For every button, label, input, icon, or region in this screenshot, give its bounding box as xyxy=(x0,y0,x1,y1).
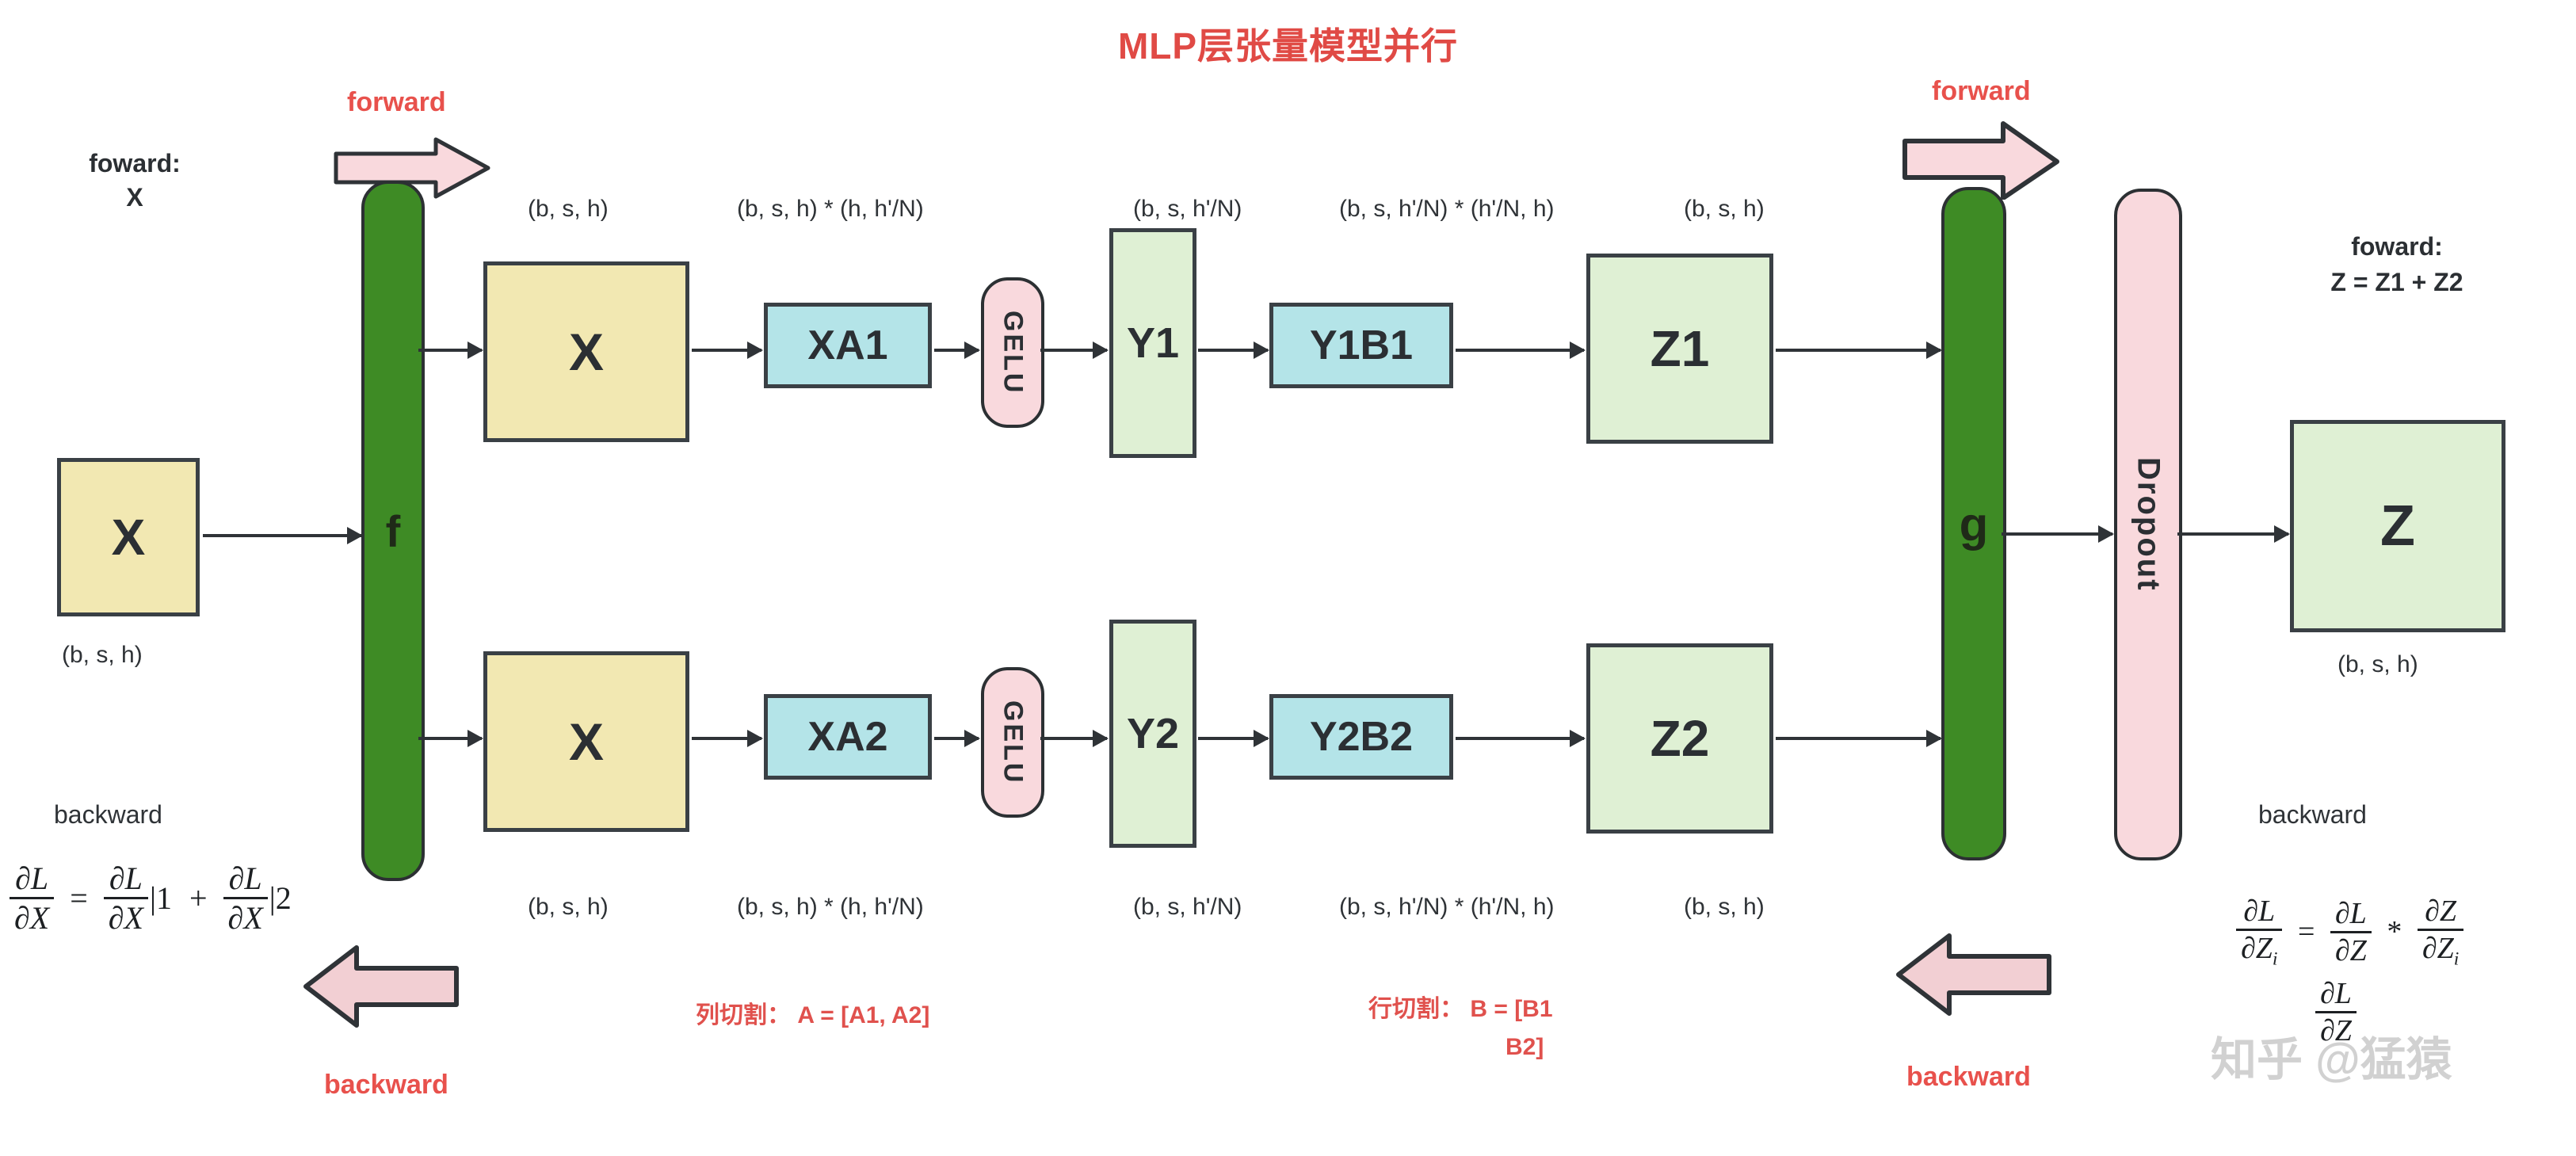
input-x-label: X xyxy=(112,512,146,563)
row-2-xa-label: XA2 xyxy=(807,716,887,757)
row-2-dim-0: (b, s, h) xyxy=(528,894,609,921)
output-z-dim-label: (b, s, h) xyxy=(2337,651,2418,678)
right-forward-note-line1: foward: xyxy=(2266,230,2528,264)
connector-row2-xa2-to-gelu xyxy=(934,737,979,740)
row-2-y-label: Y2 xyxy=(1127,712,1179,755)
row-2-xa-box: XA2 xyxy=(764,694,932,780)
right-forward-arrow-label: forward xyxy=(1932,76,2031,107)
right-backward-arrow-label: backward xyxy=(1906,1062,2031,1093)
connector-row2-z2-to-g xyxy=(1776,737,1941,740)
connector-row2-gelu-to-y2 xyxy=(1040,737,1107,740)
left-backward-label: backward xyxy=(54,800,162,830)
row-2-z-label: Z2 xyxy=(1651,713,1710,764)
connector-input-to-f xyxy=(203,534,361,537)
row-2-x-label: X xyxy=(569,715,604,768)
page-title: MLP层张量模型并行 xyxy=(0,17,2576,70)
row-2-z-box: Z2 xyxy=(1586,643,1773,834)
connector-row1-y1b1-to-z1 xyxy=(1456,349,1584,352)
row-2-gelu-node: GELU xyxy=(981,667,1044,818)
connector-row1-z1-to-g xyxy=(1776,349,1941,352)
connector-f-to-row2-x xyxy=(418,737,482,740)
backward-block-arrow-left xyxy=(301,943,460,1030)
output-z-box: Z xyxy=(2290,420,2505,632)
row-2-dim-2: (b, s, h'/N) xyxy=(1133,894,1242,921)
gather-node-g-label: g xyxy=(1944,190,2003,857)
watermark: 知乎 @猛猿 xyxy=(2211,1022,2452,1089)
row-2-x-box: X xyxy=(483,651,689,832)
row-1-yb-box: Y1B1 xyxy=(1269,303,1453,388)
row-1-dim-0: (b, s, h) xyxy=(528,196,609,223)
connector-dropout-to-z xyxy=(2177,532,2288,536)
row-1-z-box: Z1 xyxy=(1586,254,1773,444)
backward-block-arrow-right xyxy=(1894,931,2052,1018)
connector-row2-y2-to-y2b2 xyxy=(1198,737,1268,740)
row-1-y-label: Y1 xyxy=(1127,322,1179,364)
row-1-x-box: X xyxy=(483,261,689,442)
row-2-dim-4: (b, s, h) xyxy=(1684,894,1765,921)
left-forward-arrow-label: forward xyxy=(347,87,446,118)
connector-row1-gelu-to-y1 xyxy=(1040,349,1107,352)
row-1-gelu-node: GELU xyxy=(981,277,1044,428)
forward-block-arrow-right xyxy=(1902,120,2060,200)
row-1-dim-3: (b, s, h'/N) * (h'/N, h) xyxy=(1339,196,1555,223)
right-forward-note-line2: Z = Z1 + Z2 xyxy=(2266,265,2528,299)
left-forward-note-line2: X xyxy=(63,181,206,215)
right-backward-label: backward xyxy=(2258,800,2367,830)
row-2-gelu-label: GELU xyxy=(998,700,1028,784)
row-1-gelu-label: GELU xyxy=(998,311,1028,395)
right-backward-formula: ∂L∂Zi = ∂L∂Z * ∂Z∂Zi xyxy=(2236,894,2463,971)
left-backward-formula: ∂L∂X = ∂L∂X|1 + ∂L∂X|2 xyxy=(10,860,293,937)
row-1-y-box: Y1 xyxy=(1109,228,1196,458)
row-2-yb-label: Y2B2 xyxy=(1310,716,1413,757)
row-1-dim-2: (b, s, h'/N) xyxy=(1133,196,1242,223)
connector-row1-x-to-xa1 xyxy=(692,349,761,352)
row-2-yb-box: Y2B2 xyxy=(1269,694,1453,780)
split-node-f-label: f xyxy=(364,184,422,878)
connector-row1-xa1-to-gelu xyxy=(934,349,979,352)
row-1-dim-1: (b, s, h) * (h, h'/N) xyxy=(737,196,924,223)
row-1-dim-4: (b, s, h) xyxy=(1684,196,1765,223)
connector-g-to-dropout xyxy=(2002,532,2112,536)
row-2-dim-3: (b, s, h'/N) * (h'/N, h) xyxy=(1339,894,1555,921)
row-2-y-box: Y2 xyxy=(1109,620,1196,848)
connector-row2-y2b2-to-z2 xyxy=(1456,737,1584,740)
row-1-z-label: Z1 xyxy=(1651,323,1710,374)
left-backward-arrow-label: backward xyxy=(324,1070,448,1101)
connector-f-to-row1-x xyxy=(418,349,482,352)
row-split-annotation-line2: B2] xyxy=(1506,1030,1544,1065)
output-z-label: Z xyxy=(2380,498,2415,555)
row-1-yb-label: Y1B1 xyxy=(1310,325,1413,366)
left-forward-note-line1: foward: xyxy=(63,147,206,181)
dropout-node: Dropout xyxy=(2114,189,2182,860)
row-2-dim-1: (b, s, h) * (h, h'/N) xyxy=(737,894,924,921)
row-1-xa-label: XA1 xyxy=(807,325,887,366)
row-1-x-label: X xyxy=(569,326,604,378)
gather-node-g: g xyxy=(1941,187,2006,860)
column-split-annotation: 列切割： A = [A1, A2] xyxy=(696,998,929,1033)
row-1-xa-box: XA1 xyxy=(764,303,932,388)
input-x-box: X xyxy=(57,458,200,616)
connector-row2-x-to-xa2 xyxy=(692,737,761,740)
connector-row1-y1-to-y1b1 xyxy=(1198,349,1268,352)
row-split-annotation-line1: 行切割： B = [B1 xyxy=(1368,992,1553,1027)
split-node-f: f xyxy=(361,181,425,881)
input-x-dim-label: (b, s, h) xyxy=(62,642,143,669)
dropout-node-label: Dropout xyxy=(2131,457,2166,592)
